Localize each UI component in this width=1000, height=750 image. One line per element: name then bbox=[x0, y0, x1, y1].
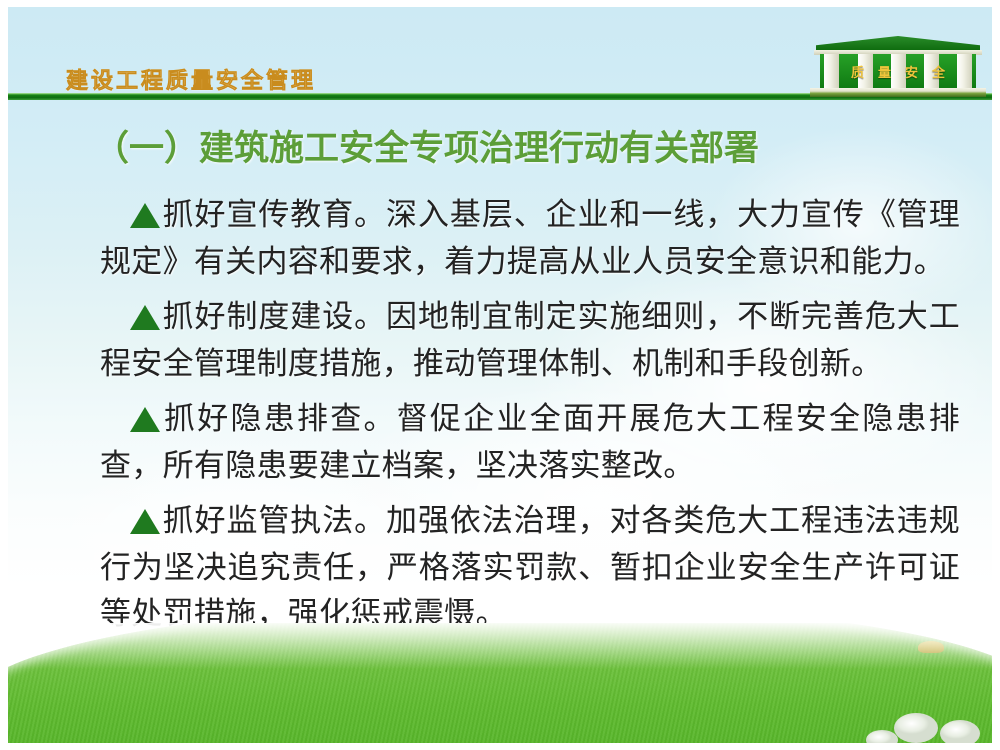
sheep-icon bbox=[866, 730, 898, 743]
slide-canvas: 建设工程质量安全管理 质量安全 （一）建筑施工安全专项治理行动有关部署 抓好宣传… bbox=[8, 7, 992, 743]
triangle-bullet-icon bbox=[130, 203, 160, 228]
sheep-icon bbox=[894, 713, 938, 743]
slide-body: 抓好宣传教育。深入基层、企业和一线，大力宣传《管理规定》有关内容和要求，着力提高… bbox=[100, 192, 960, 647]
quality-safety-temple-logo: 质量安全 bbox=[810, 36, 986, 100]
grass-field-decoration bbox=[8, 623, 992, 743]
header-title: 建设工程质量安全管理 bbox=[66, 67, 316, 95]
triangle-bullet-icon bbox=[130, 509, 160, 534]
logo-label: 质量安全 bbox=[820, 62, 976, 81]
temple-pediment-icon bbox=[816, 36, 980, 51]
bullet-item: 抓好宣传教育。深入基层、企业和一线，大力宣传《管理规定》有关内容和要求，着力提高… bbox=[100, 192, 960, 285]
haystack-icon bbox=[918, 641, 944, 653]
presentation-slide: 建设工程质量安全管理 质量安全 （一）建筑施工安全专项治理行动有关部署 抓好宣传… bbox=[0, 0, 1000, 750]
bullet-item: 抓好制度建设。因地制宜制定实施细则，不断完善危大工程安全管理制度措施，推动管理体… bbox=[100, 294, 960, 387]
slide-header: 建设工程质量安全管理 质量安全 bbox=[8, 7, 992, 107]
sheep-icon bbox=[940, 720, 980, 743]
bullet-item: 抓好隐患排查。督促企业全面开展危大工程安全隐患排查，所有隐患要建立档案，坚决落实… bbox=[100, 396, 960, 489]
page-title: （一）建筑施工安全专项治理行动有关部署 bbox=[94, 126, 759, 172]
bullet-text: 抓好制度建设。因地制宜制定实施细则，不断完善危大工程安全管理制度措施，推动管理体… bbox=[100, 299, 960, 381]
temple-base-icon bbox=[810, 88, 986, 97]
bullet-text: 抓好宣传教育。深入基层、企业和一线，大力宣传《管理规定》有关内容和要求，着力提高… bbox=[100, 197, 960, 279]
bullet-text: 抓好监管执法。加强依法治理，对各类危大工程违法违规行为坚决追究责任，严格落实罚款… bbox=[100, 503, 960, 631]
triangle-bullet-icon bbox=[130, 407, 160, 432]
bullet-text: 抓好隐患排查。督促企业全面开展危大工程安全隐患排查，所有隐患要建立档案，坚决落实… bbox=[100, 401, 960, 483]
bullet-item: 抓好监管执法。加强依法治理，对各类危大工程违法违规行为坚决追究责任，严格落实罚款… bbox=[100, 498, 960, 638]
triangle-bullet-icon bbox=[130, 305, 160, 330]
grass-hill-shape bbox=[8, 623, 992, 743]
